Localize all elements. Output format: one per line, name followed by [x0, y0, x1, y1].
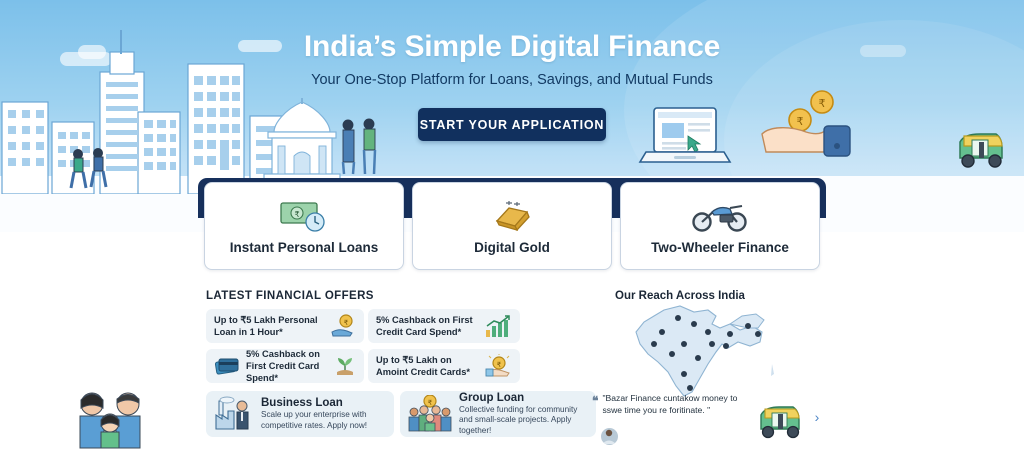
cash-clock-icon: ₹ [279, 198, 329, 234]
svg-text:₹: ₹ [294, 210, 299, 219]
testimonial: ❝ "Bazar Finance cuntakow money to sswe … [592, 393, 752, 433]
offer-text: Up to ₹5 Lakh on Amoint Credit Cards* [376, 354, 478, 379]
feature-card-body: Business Loan Scale up your enterprise w… [261, 397, 386, 431]
laptop-cursor-illustration [638, 104, 734, 168]
start-application-button[interactable]: START YOUR APPLICATION [418, 108, 606, 141]
testimonial-text: "Bazar Finance cuntakow money to sswe ti… [602, 393, 752, 433]
monument-illustration [256, 98, 348, 182]
walking-people-illustration [64, 148, 120, 194]
credit-cards-icon [214, 355, 240, 377]
feature-card-desc: Collective funding for community and sma… [459, 405, 588, 437]
svg-text:₹: ₹ [797, 115, 804, 128]
next-arrow-button[interactable]: › [808, 408, 826, 426]
offers-heading: LATEST FINANCIAL OFFERS [206, 290, 374, 302]
avatar [600, 427, 619, 446]
page-subtitle: Your One-Stop Platform for Loans, Saving… [0, 72, 1024, 88]
quote-open-icon: ❝ [592, 393, 598, 433]
landing-page: ₹ ₹ India’s Simple Digital Finance Your … [0, 0, 1024, 449]
factory-businessman-icon [214, 395, 254, 433]
offer-card-credit-cards[interactable]: Up to ₹5 Lakh on Amoint Credit Cards* ₹ [368, 349, 520, 383]
family-group-icon: ₹ [408, 395, 452, 433]
auto-rickshaw-illustration [950, 128, 1012, 174]
family-illustration [58, 386, 162, 449]
product-card-personal-loans[interactable]: ₹ Instant Personal Loans [204, 182, 404, 270]
feature-card-title: Group Loan [459, 392, 588, 404]
product-card-label: Instant Personal Loans [230, 240, 379, 255]
sprout-icon [334, 355, 356, 377]
motorcycle-icon [690, 198, 750, 234]
offer-text: 5% Cashback on First Credit Card Spend* [376, 314, 478, 339]
offer-card-personal-loan[interactable]: Up to ₹5 Lakh Personal Loan in 1 Hour* ₹ [206, 309, 364, 343]
growth-chart-icon [484, 314, 512, 338]
feature-card-business-loan[interactable]: Business Loan Scale up your enterprise w… [206, 391, 394, 437]
hand-coin-icon: ₹ [330, 314, 356, 338]
auto-rickshaw-illustration [752, 402, 808, 442]
feature-card-body: Group Loan Collective funding for commun… [459, 392, 588, 437]
product-cards: ₹ Instant Personal Loans Digital Gold [204, 182, 820, 270]
offer-text: 5% Cashback on First Credit Card Spend* [246, 348, 328, 385]
map-heading: Our Reach Across India [615, 290, 745, 302]
svg-text:₹: ₹ [497, 361, 502, 369]
gold-bar-icon [489, 198, 535, 234]
svg-text:₹: ₹ [344, 319, 349, 327]
svg-text:₹: ₹ [819, 97, 826, 110]
svg-text:₹: ₹ [428, 399, 433, 407]
product-card-two-wheeler[interactable]: Two-Wheeler Finance [620, 182, 820, 270]
page-title: India’s Simple Digital Finance [0, 30, 1024, 64]
hand-coin-icon: ₹ [484, 354, 512, 378]
feature-card-group-loan[interactable]: ₹ Group Loan Collective funding for comm… [400, 391, 596, 437]
offer-card-cashback-2[interactable]: 5% Cashback on First Credit Card Spend* [206, 349, 364, 383]
offer-text: Up to ₹5 Lakh Personal Loan in 1 Hour* [214, 314, 324, 339]
feature-card-title: Business Loan [261, 397, 386, 409]
offer-card-cashback-1[interactable]: 5% Cashback on First Credit Card Spend* [368, 309, 520, 343]
product-card-label: Two-Wheeler Finance [651, 240, 789, 255]
product-card-digital-gold[interactable]: Digital Gold [412, 182, 612, 270]
product-card-label: Digital Gold [474, 240, 550, 255]
hand-with-rupee-coins-illustration: ₹ ₹ [756, 90, 852, 160]
standing-people-illustration [338, 118, 382, 176]
feature-card-desc: Scale up your enterprise with competitiv… [261, 410, 386, 431]
india-map[interactable] [612, 302, 792, 400]
